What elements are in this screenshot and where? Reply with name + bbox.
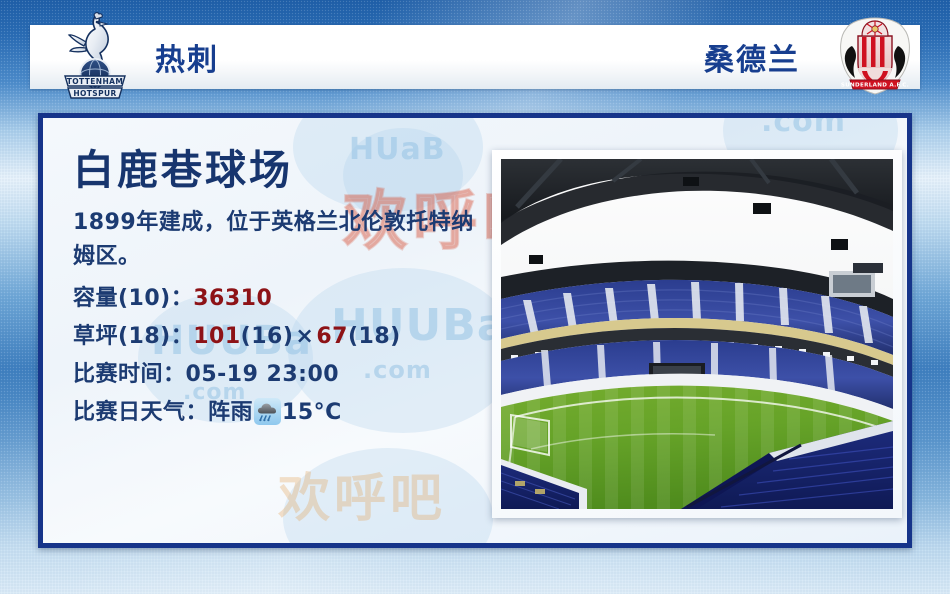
tottenham-hotspur-crest-icon: TOTTENHAM HOTSPUR [62,12,128,100]
weather-condition: 阵雨 [208,400,253,425]
pitch-label: 草坪(18)： [73,324,193,349]
watermark-brand-cn-bottom: 欢呼吧 [278,456,446,531]
match-header-bar: 热刺 桑德兰 [30,25,920,89]
pitch-width-rank: (18) [348,324,401,349]
kickoff-row: 比赛时间：05-19 23:00 [73,356,493,394]
app-root: 热刺 桑德兰 [0,0,950,594]
capacity-value: 36310 [193,286,272,311]
watermark-dotcom-top: .com [761,113,846,139]
kickoff-value: 05-19 23:00 [186,362,340,387]
pitch-row: 草坪(18)：101(16)×67(18) [73,318,493,356]
capacity-row: 容量(10)：36310 [73,280,493,318]
stadium-info-column: 白鹿巷球场 1899年建成，位于英格兰北伦敦托特纳姆区。 容量(10)：3631… [73,148,493,432]
white-hart-lane-stadium-photo [501,159,893,509]
weather-row: 比赛日天气：阵雨 15°C [73,394,493,432]
pitch-length-rank: (16) [241,324,294,349]
kickoff-label: 比赛时间： [73,362,186,387]
watermark-cloud-6 [283,448,493,548]
rain-shower-icon [254,398,281,425]
capacity-label: 容量(10)： [73,286,193,311]
home-team-name: 热刺 [155,35,219,79]
pitch-length-value: 101 [193,324,240,349]
pitch-times-symbol: × [293,324,316,349]
stadium-photo-frame [492,150,902,518]
pitch-width-value: 67 [316,324,348,349]
svg-text:TOTTENHAM: TOTTENHAM [67,77,123,86]
svg-text:HOTSPUR: HOTSPUR [73,89,116,98]
stadium-info-card: HUaB .com HUUBa .com HUUBa .com .com 欢呼吧… [38,113,912,548]
svg-text:SUNDERLAND A.F.C.: SUNDERLAND A.F.C. [841,83,909,89]
stadium-title: 白鹿巷球场 [73,148,493,192]
sunderland-afc-crest-icon: SUNDERLAND A.F.C. [836,16,914,96]
weather-temperature: 15°C [282,400,342,425]
away-team-name: 桑德兰 [704,35,800,79]
stadium-description: 1899年建成，位于英格兰北伦敦托特纳姆区。 [73,206,483,274]
weather-label: 比赛日天气： [73,400,208,425]
